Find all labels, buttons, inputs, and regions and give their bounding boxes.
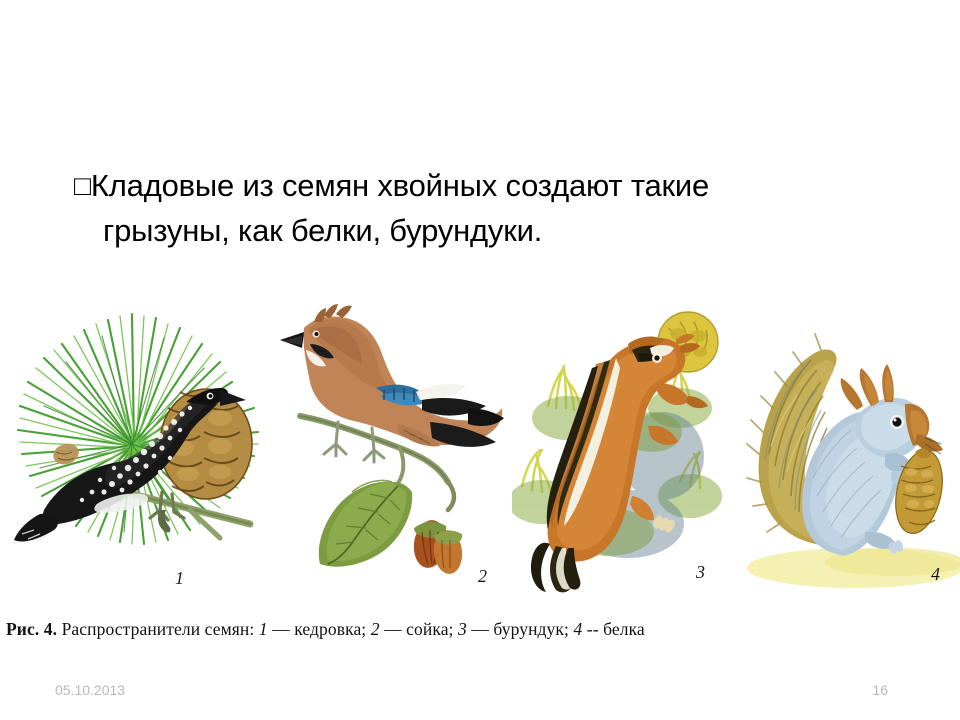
panel-number-2: 2	[478, 566, 487, 587]
jay-illustration	[280, 296, 510, 596]
slide-footer: 05.10.2013 16	[0, 682, 960, 704]
bullet-line-1-text: Кладовые из семян хвойных создают такие	[91, 168, 709, 203]
bullet-line-2: грызуны, как белки, бурундуки.	[74, 208, 774, 253]
figure-caption-dash-1: —	[268, 619, 295, 639]
bullet-square-icon: □	[74, 170, 91, 201]
figure-caption-dash-3: —	[467, 619, 494, 639]
figure-panel-jay: 2	[280, 296, 510, 596]
oak-leaf	[319, 480, 412, 566]
panel-number-1: 1	[175, 568, 184, 589]
figure-caption-num-3: 3	[458, 619, 467, 639]
figure-caption-num-2: 2	[371, 619, 380, 639]
bullet-line-2-text: грызуны, как белки, бурундуки.	[103, 213, 542, 248]
panel-number-3: 3	[696, 562, 705, 583]
panel-number-4: 4	[931, 564, 940, 585]
bullet-line-1: □Кладовые из семян хвойных создают такие	[74, 163, 774, 208]
nutcracker-illustration	[14, 296, 274, 596]
figure-caption-num-4: 4	[573, 619, 582, 639]
figure-panel-nutcracker: 1	[14, 296, 274, 596]
figure-caption-text: Распространители семян:	[57, 619, 259, 639]
figure-caption: Рис. 4. Распространители семян: 1 — кедр…	[6, 619, 906, 640]
slide-body-text: □Кладовые из семян хвойных создают такие…	[74, 163, 774, 253]
figure-caption-dash-2: —	[380, 619, 407, 639]
figure-caption-prefix: Рис. 4.	[6, 619, 57, 639]
figure-panel-squirrel: 4	[745, 296, 960, 596]
figure-caption-num-1: 1	[259, 619, 268, 639]
figure-caption-dash-4: --	[582, 619, 603, 639]
jay-bird	[280, 304, 504, 462]
footer-page-number: 16	[872, 682, 888, 698]
figure-caption-name-1: кедровка;	[294, 619, 371, 639]
figure-caption-name-4: белка	[603, 619, 645, 639]
acorns	[411, 518, 464, 575]
footer-date: 05.10.2013	[55, 682, 125, 698]
figure-caption-name-3: бурундук;	[493, 619, 573, 639]
figure-caption-name-2: сойка;	[406, 619, 458, 639]
figure-panel-chipmunk: 3	[512, 296, 742, 596]
chipmunk-illustration	[512, 296, 742, 596]
illustration-figure: 1	[0, 296, 960, 596]
ground-wash	[747, 548, 960, 588]
squirrel-illustration	[745, 296, 960, 596]
